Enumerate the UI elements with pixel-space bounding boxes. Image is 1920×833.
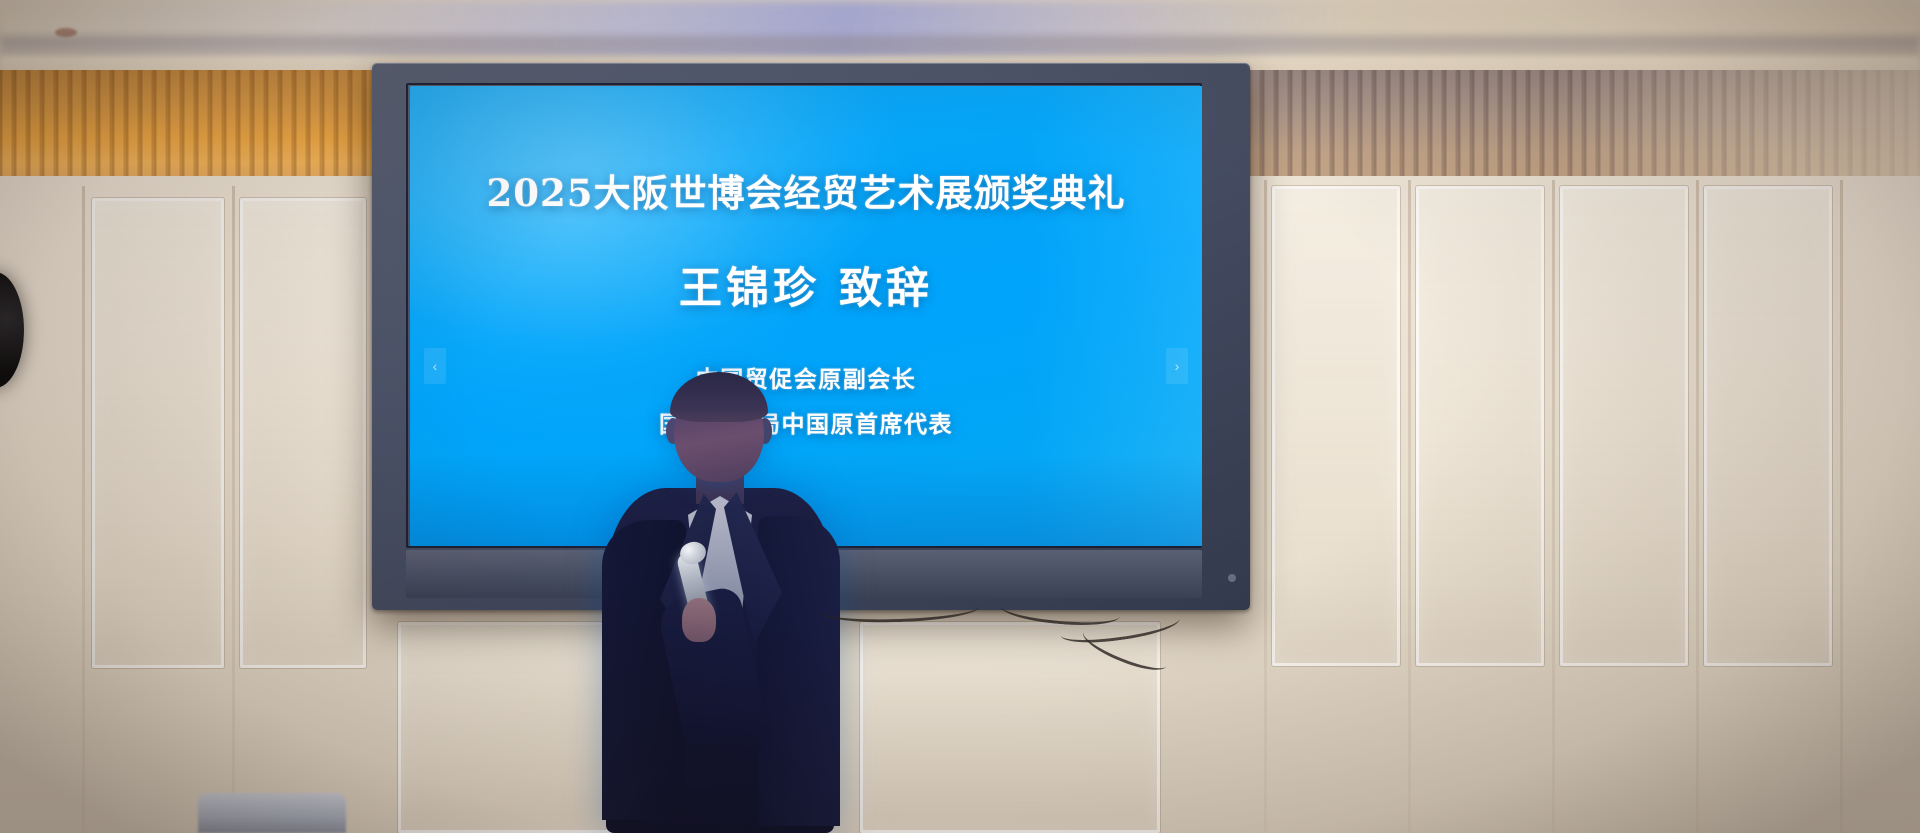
wall-panel — [1416, 186, 1544, 666]
wall-seam — [1408, 180, 1411, 833]
ceiling-downlight — [55, 28, 77, 37]
slide-speaker-name: 王锦珍 致辞 — [410, 254, 1202, 316]
wall-panel — [1704, 186, 1832, 666]
speaker-hair — [670, 372, 768, 422]
photo-scene: 2025大阪世博会经贸艺术展颁奖典礼 王锦珍 致辞 中国贸促会原副会长 国际展览… — [0, 0, 1920, 833]
wall-seam — [1840, 180, 1843, 833]
speaker-person — [600, 370, 840, 833]
wall-seam — [1552, 180, 1555, 833]
slide-title: 2025大阪世博会经贸艺术展颁奖典礼 — [410, 163, 1202, 217]
wall-panel — [92, 198, 224, 668]
wall-seam — [232, 186, 235, 833]
wall-seam — [1264, 180, 1267, 833]
wall-seam — [82, 186, 85, 833]
foreground-table — [198, 793, 346, 833]
wall-seam — [1696, 180, 1699, 833]
wall-panel — [240, 198, 366, 668]
chevron-left-icon[interactable]: ‹ — [424, 348, 446, 384]
ir-receiver-icon — [1228, 574, 1236, 582]
wood-panel-highlight-fade — [1560, 70, 1920, 180]
chevron-right-icon[interactable]: › — [1166, 348, 1188, 384]
wall-panel — [1272, 186, 1400, 666]
wood-slat-panel-left — [0, 70, 372, 180]
speaker-shoulder-right — [758, 516, 840, 826]
wall-panel — [1560, 186, 1688, 666]
speaker-hand — [682, 598, 716, 642]
